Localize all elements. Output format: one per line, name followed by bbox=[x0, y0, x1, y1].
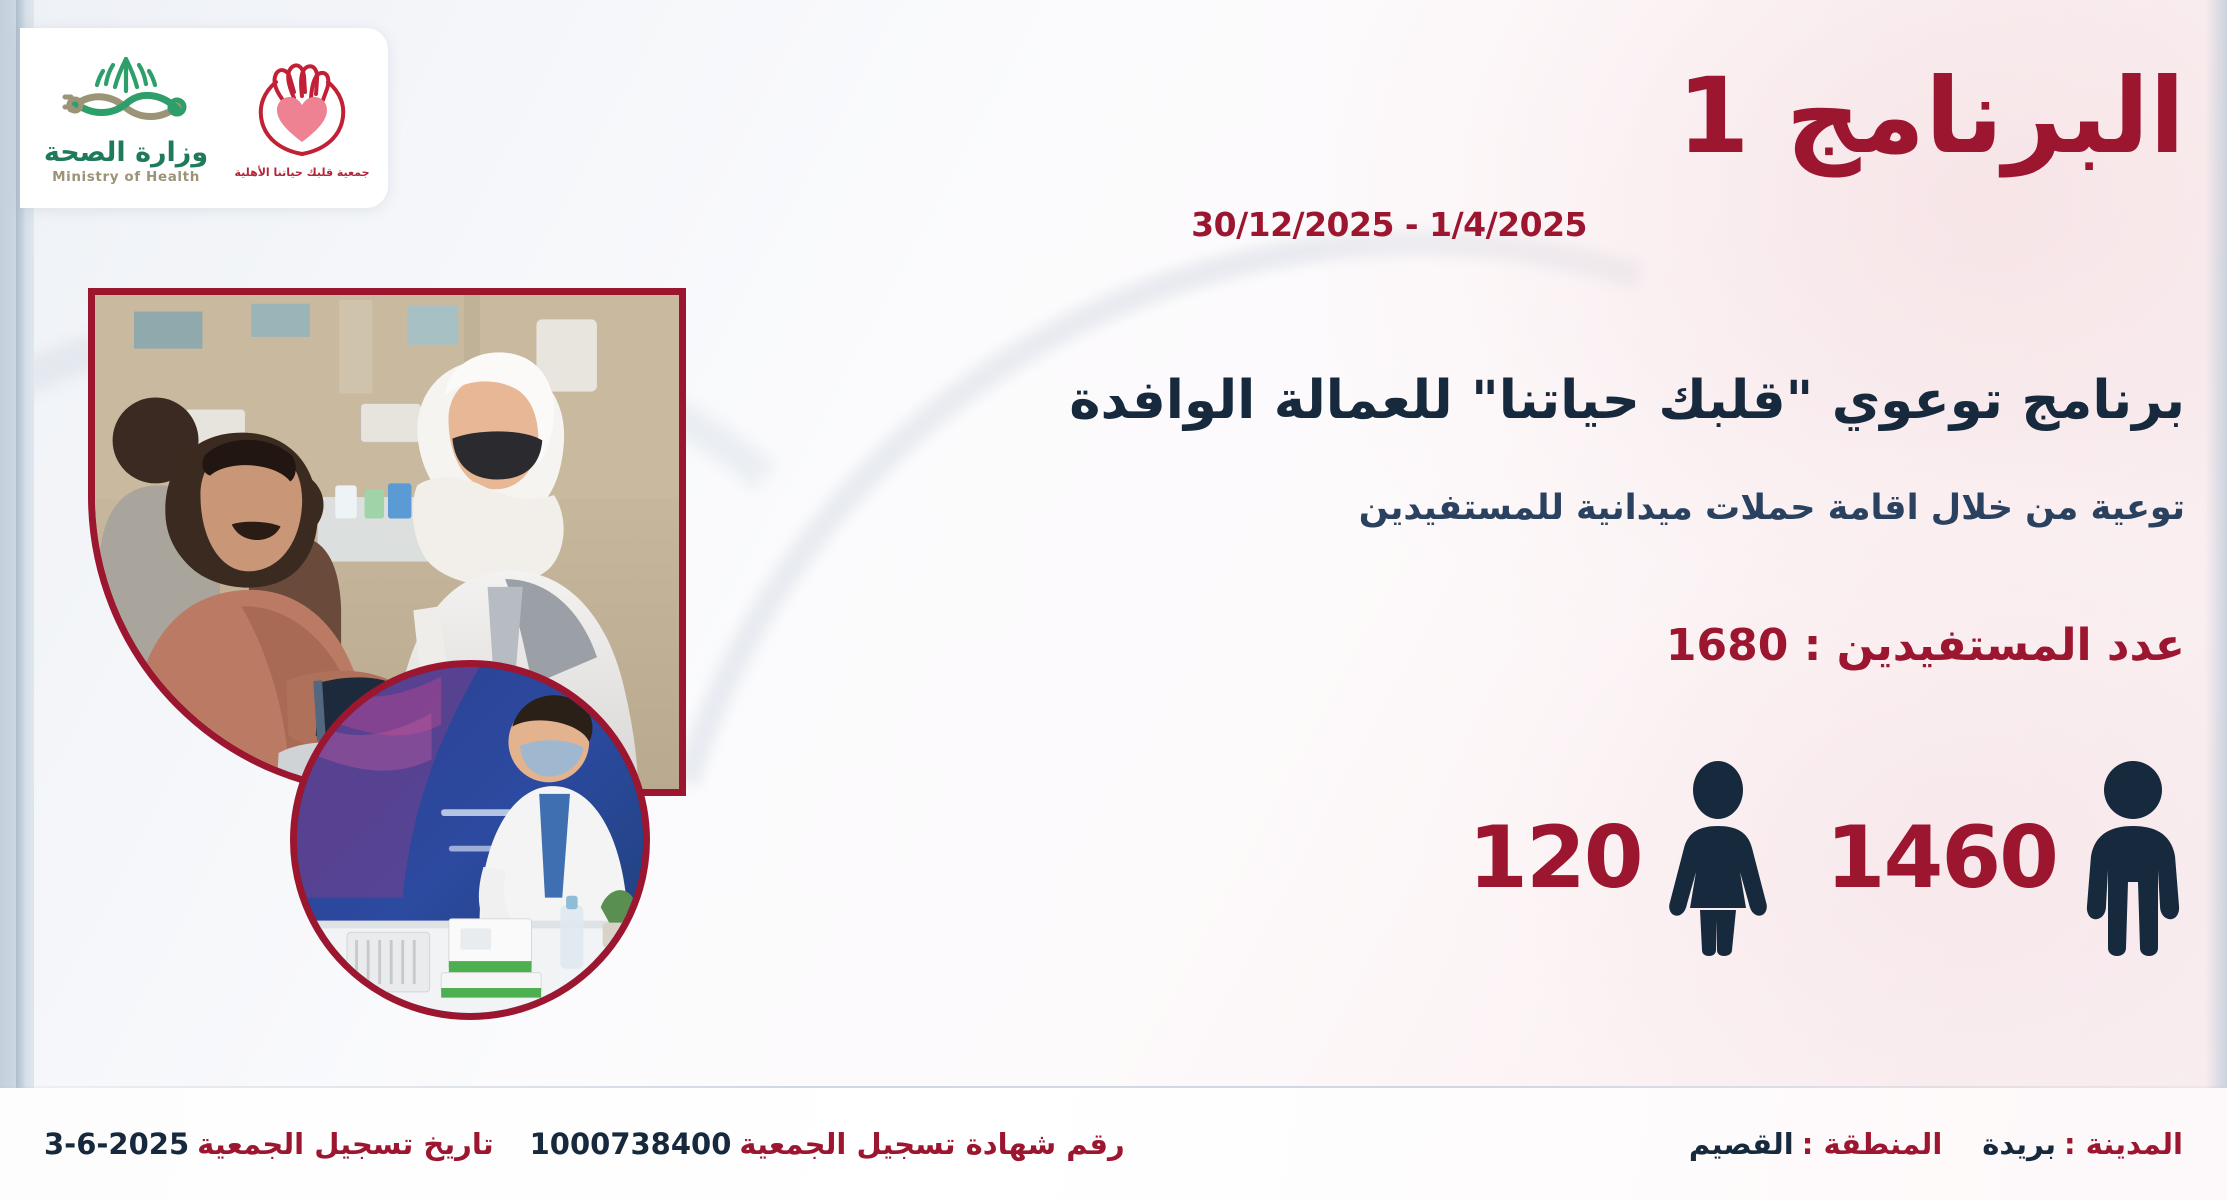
region-info: المنطقة : القصيم bbox=[1689, 1127, 1942, 1161]
male-count: 1460 bbox=[1826, 815, 2057, 901]
hands-holding-heart-icon bbox=[246, 58, 358, 162]
city-value: بريدة bbox=[1982, 1127, 2056, 1161]
ministry-of-health-logo: وزارة الصحة Ministry of Health bbox=[41, 51, 211, 185]
registration-date: تاريخ تسجيل الجمعية 3-6-2025 bbox=[44, 1127, 494, 1161]
certificate-number-label: رقم شهادة تسجيل الجمعية bbox=[739, 1127, 1124, 1161]
program-date-range: 30/12/2025 - 1/4/2025 bbox=[1191, 205, 1587, 244]
female-stat-group: 120 bbox=[1468, 760, 1770, 956]
saudi-palm-swords-emblem-icon bbox=[51, 51, 201, 137]
female-figure-glyph bbox=[1666, 760, 1770, 956]
certificate-number-value: 1000738400 bbox=[530, 1127, 732, 1161]
program-infographic-poster: وزارة الصحة Ministry of Health جمعية قلب… bbox=[0, 0, 2227, 1200]
city-info: المدينة : بريدة bbox=[1982, 1127, 2183, 1161]
ministry-name-arabic: وزارة الصحة bbox=[44, 139, 208, 166]
region-value: القصيم bbox=[1689, 1127, 1794, 1161]
beneficiaries-label: عدد المستفيدين : bbox=[1804, 620, 2185, 671]
male-stat-group: 1460 bbox=[1826, 760, 2185, 956]
beneficiaries-count: عدد المستفيدين : 1680 bbox=[1666, 620, 2185, 671]
association-name-arabic: جمعية قلبك حياتنا الأهلية bbox=[234, 166, 369, 179]
page-title: البرنامج 1 bbox=[1677, 62, 2185, 171]
logo-card: وزارة الصحة Ministry of Health جمعية قلب… bbox=[20, 28, 388, 208]
city-label: المدينة : bbox=[2064, 1127, 2183, 1161]
gender-statistics: 1460 120 bbox=[1468, 760, 2185, 956]
right-edge-strip bbox=[2205, 0, 2227, 1200]
male-figure-icon bbox=[2081, 760, 2185, 956]
beneficiaries-value: 1680 bbox=[1666, 620, 1788, 671]
footer-registration-info: رقم شهادة تسجيل الجمعية 1000738400 تاريخ… bbox=[44, 1127, 1125, 1161]
footer-bar: رقم شهادة تسجيل الجمعية 1000738400 تاريخ… bbox=[0, 1088, 2227, 1200]
field-campaign-clinic-table-photo bbox=[290, 660, 650, 1020]
program-headline: برنامج توعوي "قلبك حياتنا" للعمالة الواف… bbox=[1069, 370, 2185, 431]
association-logo: جمعية قلبك حياتنا الأهلية bbox=[237, 58, 367, 179]
registration-date-label: تاريخ تسجيل الجمعية bbox=[197, 1127, 493, 1161]
photo-illustration bbox=[297, 667, 643, 1013]
footer-location-info: المدينة : بريدة المنطقة : القصيم bbox=[1689, 1127, 2183, 1161]
registration-certificate-number: رقم شهادة تسجيل الجمعية 1000738400 bbox=[530, 1127, 1125, 1161]
registration-date-value: 3-6-2025 bbox=[44, 1127, 189, 1161]
region-label: المنطقة : bbox=[1802, 1127, 1943, 1161]
male-figure-glyph bbox=[2081, 760, 2185, 956]
program-subtitle: توعية من خلال اقامة حملات ميدانية للمستف… bbox=[1359, 488, 2185, 528]
female-count: 120 bbox=[1468, 815, 1642, 901]
female-figure-icon bbox=[1666, 760, 1770, 956]
ministry-name-english: Ministry of Health bbox=[52, 169, 200, 185]
